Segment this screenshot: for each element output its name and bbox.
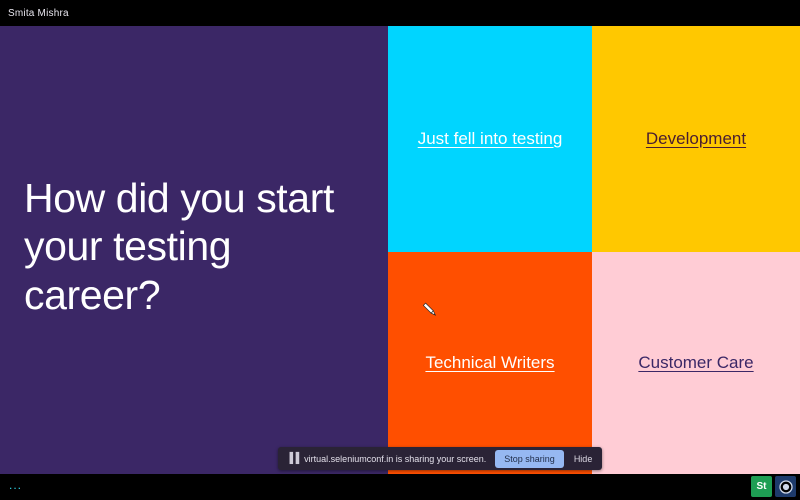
question-panel: How did you start your testing career? <box>0 26 388 474</box>
sheets-icon[interactable]: St <box>751 476 772 497</box>
answer-quadrant-technical-writers[interactable]: Technical Writers <box>388 252 592 474</box>
os-taskbar: ... St <box>0 474 800 500</box>
answer-quadrant-development[interactable]: Development <box>592 26 800 252</box>
pen-cursor-icon <box>420 300 440 320</box>
answer-label-technical-writers: Technical Writers <box>425 352 554 375</box>
answer-label-just-fell-into-testing: Just fell into testing <box>418 128 563 151</box>
top-bar: Smita Mishra <box>0 0 800 26</box>
shared-slide-stage: How did you start your testing career? J… <box>0 26 800 474</box>
answer-quadrant-customer-care[interactable]: Customer Care <box>592 252 800 474</box>
taskbar-overflow-menu[interactable]: ... <box>9 479 22 492</box>
screen-share-message: virtual.seleniumconf.in is sharing your … <box>304 454 486 464</box>
taskbar-apps: St <box>751 476 796 497</box>
stop-sharing-button[interactable]: Stop sharing <box>495 450 564 468</box>
answer-quadrant-just-fell-into-testing[interactable]: Just fell into testing <box>388 26 592 252</box>
pause-icon: ▐▐ <box>286 453 298 464</box>
sheets-icon-label: St <box>757 481 767 492</box>
page-title: How did you start your testing career? <box>24 174 354 319</box>
screen-share-notification: ▐▐ virtual.seleniumconf.in is sharing yo… <box>278 447 602 470</box>
meet-icon[interactable] <box>775 476 796 497</box>
hide-button[interactable]: Hide <box>574 454 593 464</box>
answer-label-customer-care: Customer Care <box>638 352 753 375</box>
presenter-name: Smita Mishra <box>8 8 69 19</box>
answer-grid: Just fell into testing Development Techn… <box>388 26 800 474</box>
answer-label-development: Development <box>646 128 746 151</box>
